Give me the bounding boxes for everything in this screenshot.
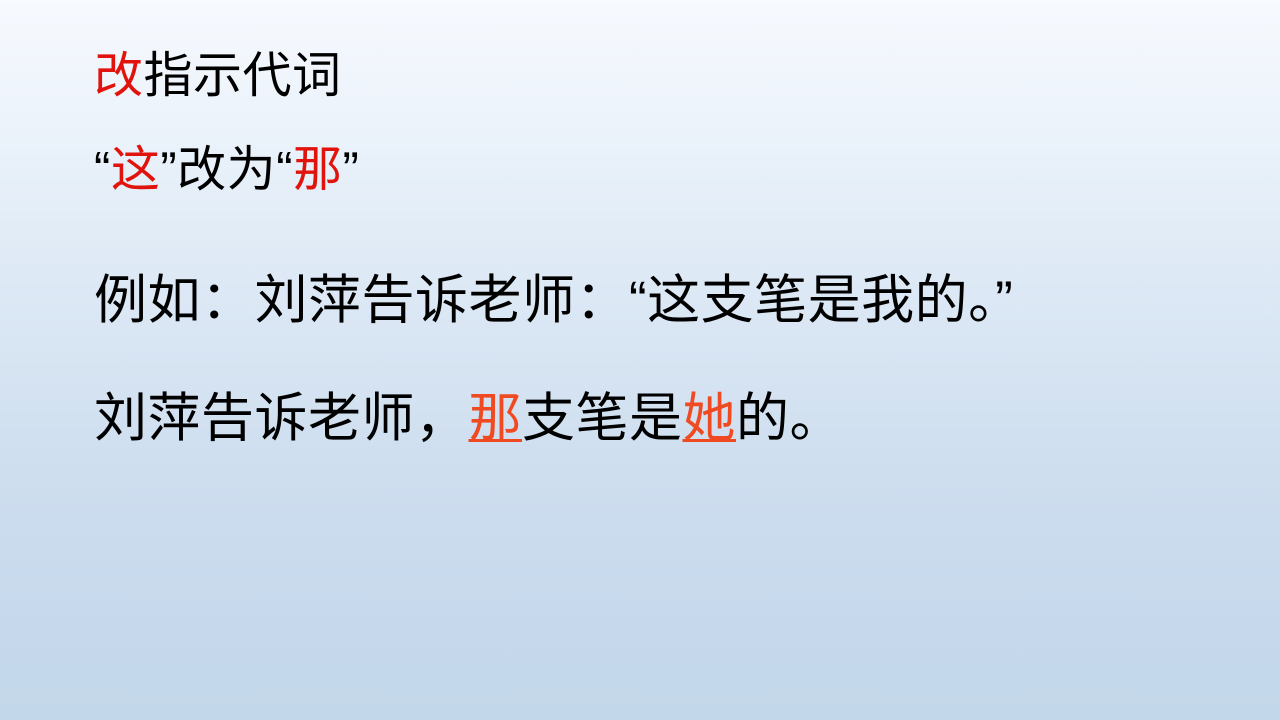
example-converted-suffix: 的。 [736, 389, 843, 448]
example-converted-middle: 支笔是 [522, 389, 683, 448]
rule-open-quote-1: “ [94, 143, 111, 197]
example-converted-prefix: 刘萍告诉老师， [94, 389, 469, 448]
rule-open-quote-2: “ [276, 143, 293, 197]
rule-term-to: 那 [293, 143, 343, 197]
example-converted-highlight-na: 那 [469, 389, 523, 448]
heading-highlight-char: 改 [94, 49, 144, 103]
rule-middle-text: 改为 [177, 143, 276, 197]
rule-close-quote-1: ” [160, 143, 177, 197]
example-converted-line: 刘萍告诉老师，那支笔是她的。 [94, 392, 1240, 446]
spacer-after-heading [94, 102, 1240, 146]
heading-line: 改指示代词 [94, 52, 1240, 102]
slide-canvas: 改指示代词 “这”改为“那” 例如：刘萍告诉老师：“这支笔是我的。” 刘萍告诉老… [0, 0, 1280, 720]
example-original-quoted: 这支笔是我的。 [647, 271, 995, 330]
example-original-open-quote: “ [629, 271, 647, 330]
spacer-before-example [94, 196, 1240, 274]
rule-term-from: 这 [111, 143, 161, 197]
example-original-line: 例如：刘萍告诉老师：“这支笔是我的。” [94, 274, 1240, 328]
heading-rest-text: 指示代词 [144, 49, 342, 103]
example-original-prefix: 例如：刘萍告诉老师： [94, 271, 629, 330]
rule-line: “这”改为“那” [94, 146, 1240, 196]
example-original-close-quote: ” [995, 271, 1013, 330]
slide-content: 改指示代词 “这”改为“那” 例如：刘萍告诉老师：“这支笔是我的。” 刘萍告诉老… [94, 52, 1240, 446]
rule-close-quote-2: ” [343, 143, 360, 197]
spacer-between-examples [94, 328, 1240, 392]
example-converted-highlight-ta: 她 [683, 389, 737, 448]
